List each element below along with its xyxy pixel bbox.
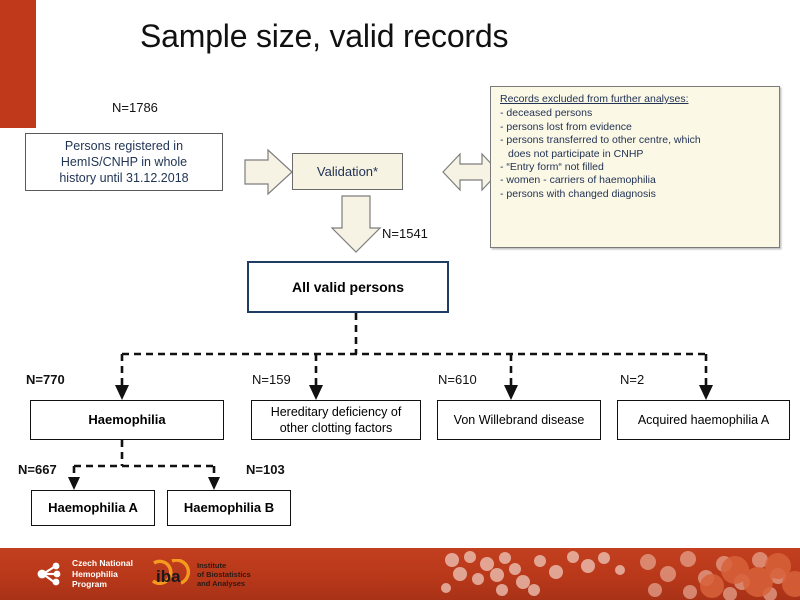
excluded-title: Records excluded from further analyses: bbox=[500, 93, 771, 106]
list-item: - deceased persons bbox=[500, 107, 771, 120]
box-haemophilia-a[interactable]: Haemophilia A bbox=[31, 490, 155, 526]
cnhp-logo: Czech National Hemophilia Program bbox=[36, 556, 133, 592]
iba-logo-text: Institute of Biostatistics and Analyses bbox=[197, 561, 251, 588]
label-n-valid: N=1541 bbox=[382, 226, 428, 241]
page-title: Sample size, valid records bbox=[140, 18, 700, 55]
block-arrow-right-icon bbox=[245, 150, 292, 194]
box-haemophilia[interactable]: Haemophilia bbox=[30, 400, 224, 440]
box-haemophilia-b[interactable]: Haemophilia B bbox=[167, 490, 291, 526]
dashed-connector-haemophilia bbox=[74, 440, 214, 478]
molecule-icon bbox=[36, 559, 66, 589]
arrowheads-row-two bbox=[68, 477, 220, 490]
label-n-total: N=1786 bbox=[112, 100, 158, 115]
dashed-connector-bus bbox=[122, 313, 706, 386]
box-von-willebrand[interactable]: Von Willebrand disease bbox=[437, 400, 601, 440]
box-source-persons[interactable]: Persons registered in HemIS/CNHP in whol… bbox=[25, 133, 223, 191]
list-item: - persons lost from evidence bbox=[500, 121, 771, 134]
list-item: - persons with changed diagnosis bbox=[500, 188, 771, 201]
iba-mark: iba bbox=[148, 559, 192, 589]
arrowheads-row-one bbox=[115, 385, 713, 400]
box-excluded-records[interactable]: Records excluded from further analyses: … bbox=[490, 86, 780, 248]
box-validation[interactable]: Validation* bbox=[292, 153, 403, 190]
footer-bar: Czech National Hemophilia Program iba In… bbox=[0, 548, 800, 600]
list-item: - “Entry form“ not filled bbox=[500, 161, 771, 174]
label-n-acquired: N=2 bbox=[620, 372, 644, 387]
iba-logo: iba Institute of Biostatistics and Analy… bbox=[148, 557, 251, 591]
box-hereditary-deficiency[interactable]: Hereditary deficiency of other clotting … bbox=[251, 400, 421, 440]
label-n-vwd: N=610 bbox=[438, 372, 477, 387]
label-n-haemophilia: N=770 bbox=[26, 372, 65, 387]
label-n-haem-b: N=103 bbox=[246, 462, 285, 477]
block-arrow-down-icon bbox=[332, 196, 380, 252]
slide-canvas: Sample size, valid records N=1786 N=1541… bbox=[0, 0, 800, 600]
cnhp-logo-text: Czech National Hemophilia Program bbox=[72, 558, 133, 590]
svg-text:iba: iba bbox=[156, 567, 181, 586]
excluded-list: - deceased persons - persons lost from e… bbox=[500, 107, 771, 201]
label-n-hereditary: N=159 bbox=[252, 372, 291, 387]
box-all-valid-persons[interactable]: All valid persons bbox=[247, 261, 449, 313]
list-item: - women - carriers of haemophilia bbox=[500, 174, 771, 187]
accent-bar bbox=[0, 0, 36, 128]
list-item: - persons transferred to other centre, w… bbox=[500, 134, 771, 161]
box-acquired-haemophilia-a[interactable]: Acquired haemophilia A bbox=[617, 400, 790, 440]
label-n-haem-a: N=667 bbox=[18, 462, 57, 477]
